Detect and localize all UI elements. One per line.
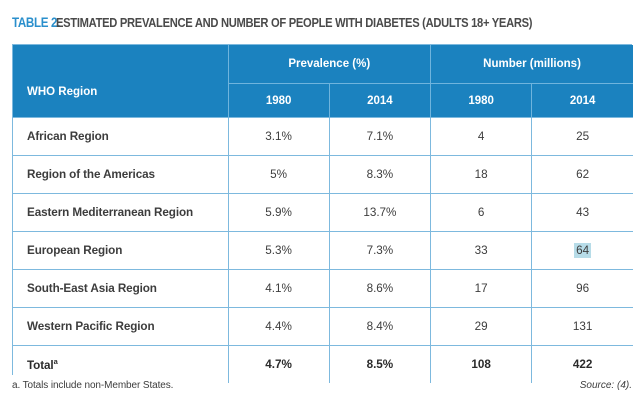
cell-total-prevalence-1980: 4.7% — [228, 346, 329, 384]
cell-total-number-1980: 108 — [431, 346, 532, 384]
total-footnote-marker: a — [54, 357, 58, 366]
cell-prevalence-1980: 5.9% — [228, 194, 329, 232]
row-label-total: Totala — [13, 346, 228, 384]
cell-number-1980: 17 — [431, 270, 532, 308]
column-group-prevalence: Prevalence (%) — [228, 45, 431, 84]
table-header-group-row: WHO Region Prevalence (%) Number (millio… — [13, 45, 633, 84]
row-label: South-East Asia Region — [13, 270, 228, 308]
cell-prevalence-2014: 8.3% — [329, 156, 430, 194]
cell-number-1980: 29 — [431, 308, 532, 346]
cell-number-2014: 131 — [532, 308, 633, 346]
cell-total-number-2014: 422 — [532, 346, 633, 384]
cell-number-1980: 6 — [431, 194, 532, 232]
cell-prevalence-1980: 5% — [228, 156, 329, 194]
cell-number-1980: 18 — [431, 156, 532, 194]
cell-number-2014: 43 — [532, 194, 633, 232]
column-header-number-1980: 1980 — [431, 84, 532, 118]
table-row: South-East Asia Region 4.1% 8.6% 17 96 — [13, 270, 633, 308]
table-footnote: a. Totals include non-Member States. — [12, 380, 173, 391]
row-label: Western Pacific Region — [13, 308, 228, 346]
cell-number-2014: 25 — [532, 118, 633, 156]
cell-number-2014-selected[interactable]: 64 — [532, 232, 633, 270]
cell-prevalence-1980: 5.3% — [228, 232, 329, 270]
selected-text[interactable]: 64 — [574, 243, 591, 258]
table-number-label: TABLE 2. — [12, 15, 60, 30]
cell-prevalence-1980: 4.1% — [228, 270, 329, 308]
row-label: Eastern Mediterranean Region — [13, 194, 228, 232]
row-label: African Region — [13, 118, 228, 156]
table-source: Source: (4). — [580, 380, 632, 391]
cell-prevalence-2014: 7.1% — [329, 118, 430, 156]
cell-prevalence-2014: 13.7% — [329, 194, 430, 232]
prevalence-table: WHO Region Prevalence (%) Number (millio… — [13, 45, 633, 383]
table-row: Region of the Americas 5% 8.3% 18 62 — [13, 156, 633, 194]
row-label: Region of the Americas — [13, 156, 228, 194]
column-header-who-region-label: WHO Region — [27, 64, 228, 98]
row-label: European Region — [13, 232, 228, 270]
column-header-prevalence-2014: 2014 — [329, 84, 430, 118]
cell-prevalence-2014: 7.3% — [329, 232, 430, 270]
cell-prevalence-1980: 3.1% — [228, 118, 329, 156]
cell-total-prevalence-2014: 8.5% — [329, 346, 430, 384]
table-row: African Region 3.1% 7.1% 4 25 — [13, 118, 633, 156]
cell-prevalence-2014: 8.4% — [329, 308, 430, 346]
table-header: WHO Region Prevalence (%) Number (millio… — [13, 45, 633, 118]
table-row: Eastern Mediterranean Region 5.9% 13.7% … — [13, 194, 633, 232]
total-label: Total — [27, 359, 54, 372]
table-row: Western Pacific Region 4.4% 8.4% 29 131 — [13, 308, 633, 346]
cell-prevalence-1980: 4.4% — [228, 308, 329, 346]
prevalence-table-container: WHO Region Prevalence (%) Number (millio… — [12, 44, 632, 375]
column-header-who-region: WHO Region — [13, 45, 228, 118]
column-group-number: Number (millions) — [431, 45, 634, 84]
table-row-total: Totala 4.7% 8.5% 108 422 — [13, 346, 633, 384]
cell-number-2014: 62 — [532, 156, 633, 194]
cell-number-1980: 33 — [431, 232, 532, 270]
cell-number-2014: 96 — [532, 270, 633, 308]
table-row: European Region 5.3% 7.3% 33 64 — [13, 232, 633, 270]
table-title-text: ESTIMATED PREVALENCE AND NUMBER OF PEOPL… — [56, 15, 532, 30]
table-title: TABLE 2. ESTIMATED PREVALENCE AND NUMBER… — [12, 11, 632, 33]
table-body: African Region 3.1% 7.1% 4 25 Region of … — [13, 118, 633, 384]
cell-prevalence-2014: 8.6% — [329, 270, 430, 308]
column-header-prevalence-1980: 1980 — [228, 84, 329, 118]
column-header-number-2014: 2014 — [532, 84, 633, 118]
cell-number-1980: 4 — [431, 118, 532, 156]
